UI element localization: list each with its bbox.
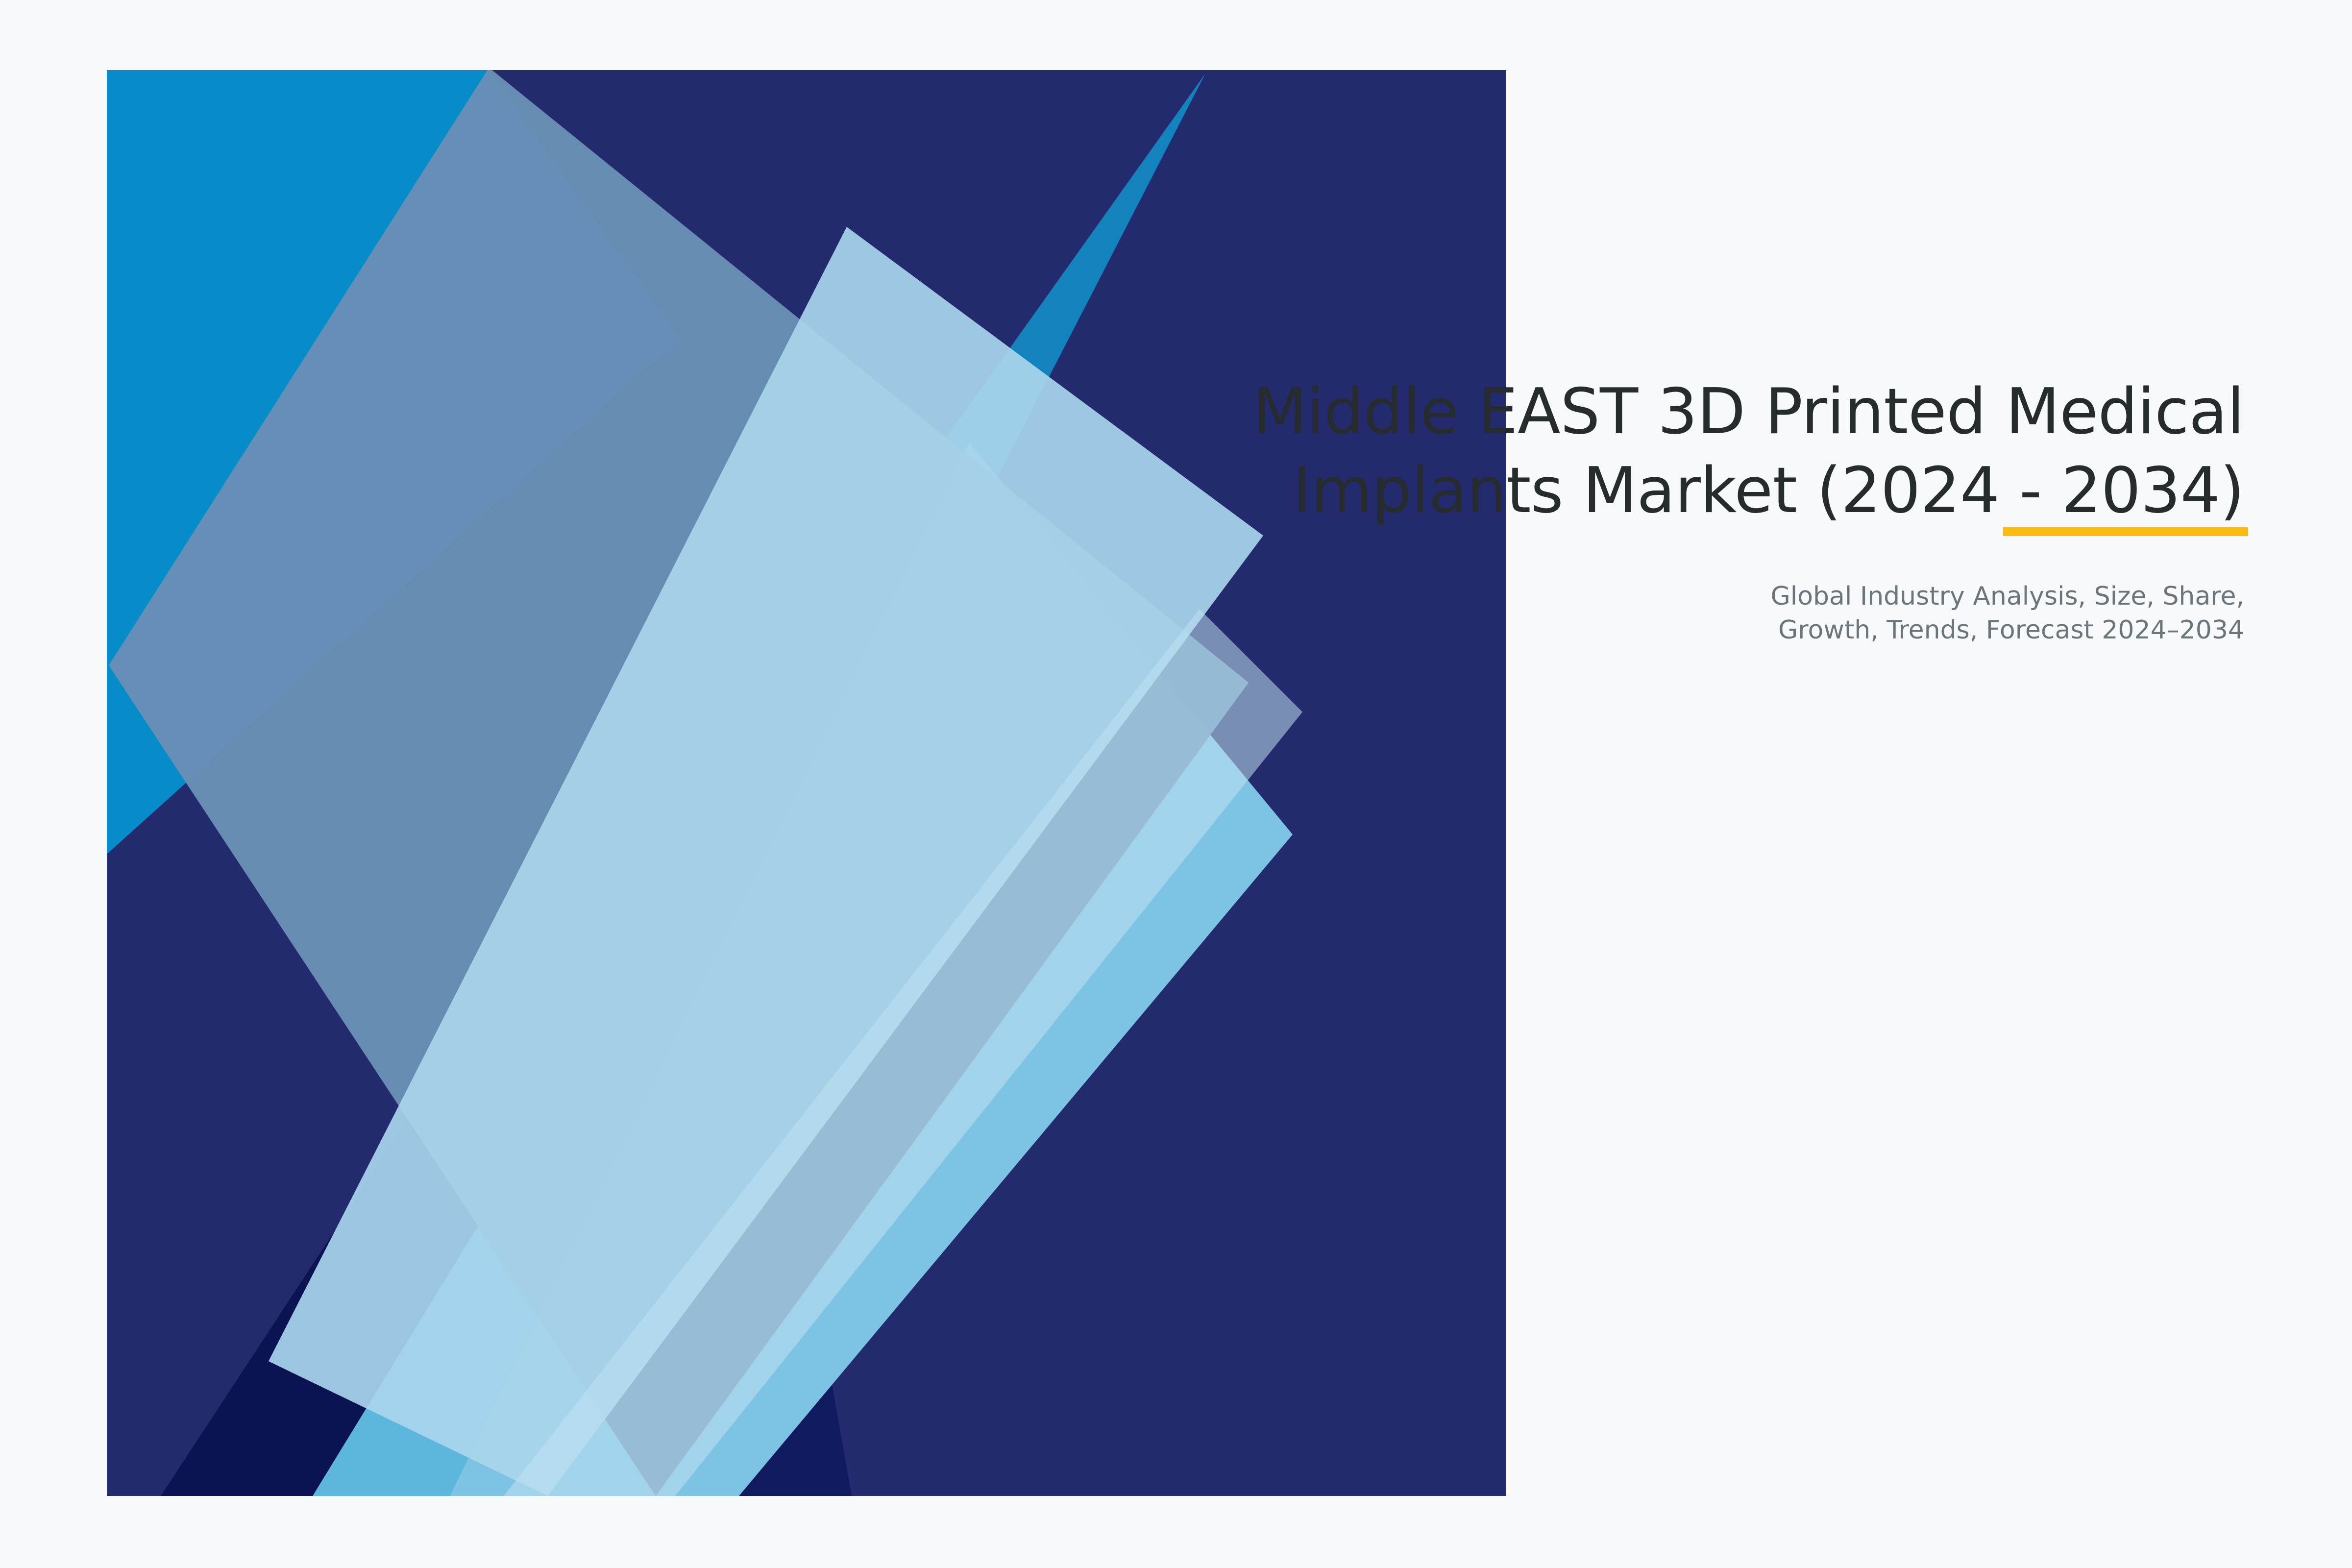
page-title: Middle EAST 3D Printed Medical Implants … [1053,372,2244,531]
artwork-svg [107,70,1506,1496]
cover-page: Middle EAST 3D Printed Medical Implants … [0,0,2352,1568]
title-wrapper: Middle EAST 3D Printed Medical Implants … [1053,372,2244,531]
page-subtitle: Global Industry Analysis, Size, Share, G… [1053,531,2244,647]
cover-text-block: Middle EAST 3D Printed Medical Implants … [1053,372,2244,647]
cover-artwork [107,70,1506,1496]
